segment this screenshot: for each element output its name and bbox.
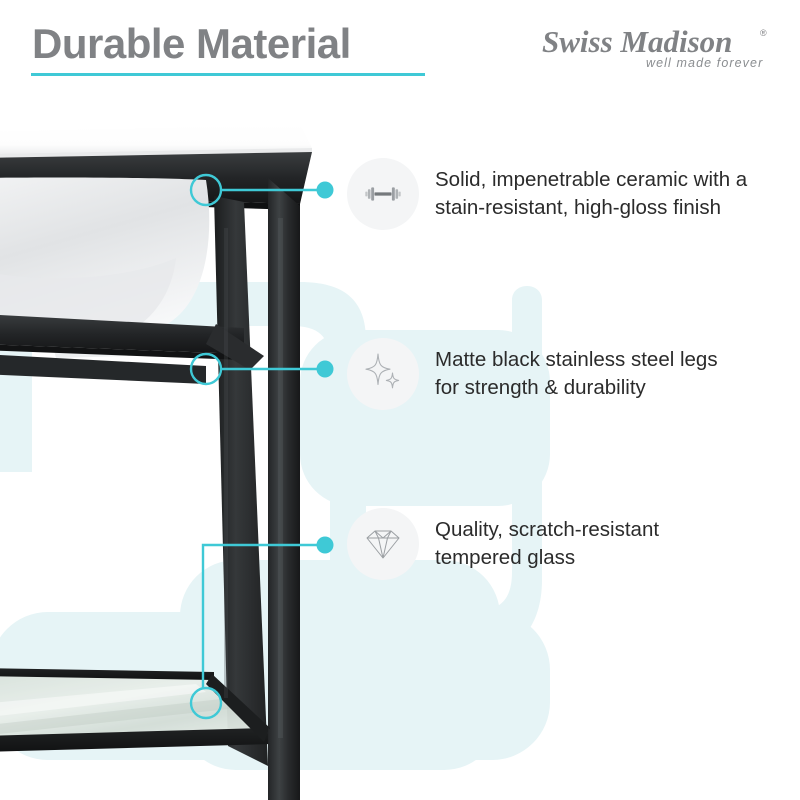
feature-item-glass: Quality, scratch-resistant tempered glas… — [347, 508, 659, 580]
feature-line: Quality, scratch-resistant — [435, 516, 659, 544]
feature-line: Matte black stainless steel legs — [435, 346, 718, 374]
feature-line: tempered glass — [435, 544, 659, 572]
feature-line: stain-resistant, high-gloss finish — [435, 194, 747, 222]
feature-line: Solid, impenetrable ceramic with a — [435, 166, 747, 194]
feature-item-ceramic: Solid, impenetrable ceramic with a stain… — [347, 158, 747, 230]
dumbbell-icon — [347, 158, 419, 230]
feature-line: for strength & durability — [435, 374, 718, 402]
feature-text-glass: Quality, scratch-resistant tempered glas… — [435, 516, 659, 572]
feature-item-legs: Matte black stainless steel legs for str… — [347, 338, 718, 410]
sparkle-icon — [347, 338, 419, 410]
infographic-canvas: Durable Material Swiss Madison ® well ma… — [0, 0, 800, 800]
feature-text-legs: Matte black stainless steel legs for str… — [435, 346, 718, 402]
diamond-icon — [347, 508, 419, 580]
feature-list: Solid, impenetrable ceramic with a stain… — [0, 0, 800, 800]
feature-text-ceramic: Solid, impenetrable ceramic with a stain… — [435, 166, 747, 222]
